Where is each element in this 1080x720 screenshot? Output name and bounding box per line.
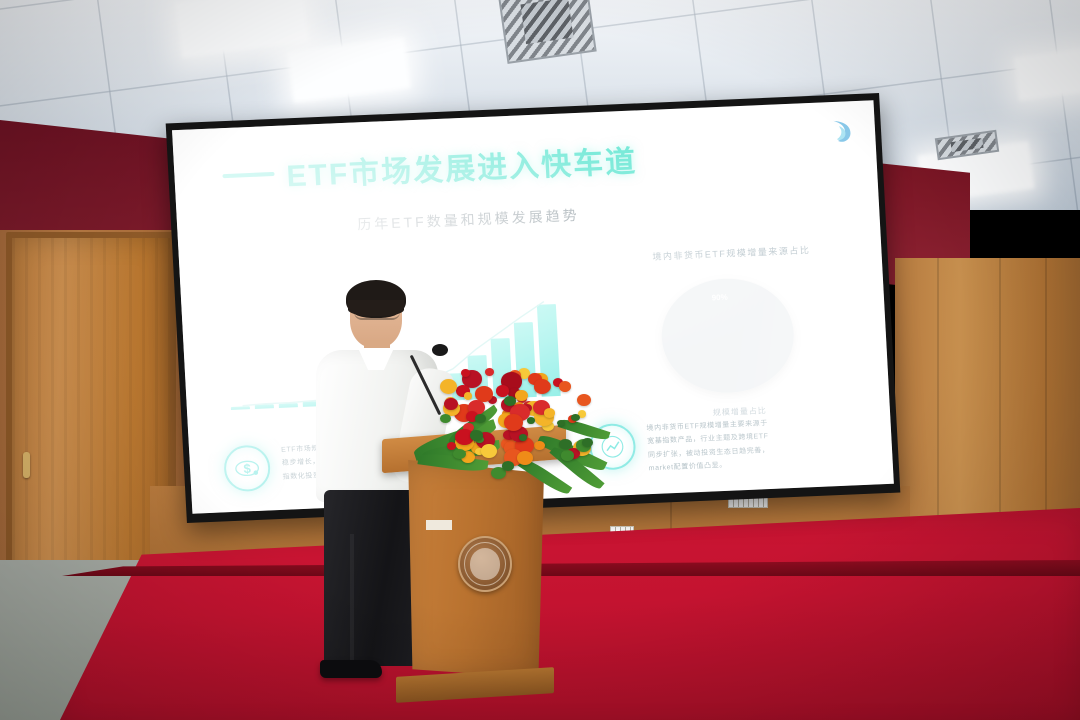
foliage bbox=[475, 414, 486, 422]
podium-shelf bbox=[426, 520, 452, 530]
flower bbox=[485, 368, 494, 376]
dollar-circle-icon: $ bbox=[223, 444, 271, 492]
foliage bbox=[561, 450, 574, 460]
flower bbox=[504, 414, 524, 431]
svg-text:$: $ bbox=[243, 461, 252, 476]
flower bbox=[534, 441, 545, 451]
pie-chart-title: 境内非货币ETF规模增量来源占比 bbox=[581, 240, 881, 266]
podium-base bbox=[396, 667, 554, 703]
brand-logo-icon bbox=[830, 117, 853, 144]
foliage bbox=[519, 434, 527, 441]
foliage bbox=[470, 430, 483, 441]
flower bbox=[481, 444, 497, 458]
presenter-leg-seam bbox=[350, 534, 354, 662]
gooseneck-microphone-head bbox=[432, 344, 448, 356]
foliage bbox=[440, 414, 451, 423]
foliage bbox=[571, 414, 581, 422]
conference-room-photo: ETF市场发展进入快车道 历年ETF数量和规模发展趋势 历年ETF数量及规模 境… bbox=[0, 0, 1080, 720]
flower bbox=[534, 379, 551, 394]
info-block-right-text: 境内非货币ETF规模增量主要来源于宽基指数产品，行业主题及跨境ETF同步扩张，被… bbox=[646, 417, 770, 475]
pie-slice-label: 90% bbox=[711, 293, 727, 303]
flower bbox=[559, 381, 571, 392]
slide-title: ETF市场发展进入快车道 bbox=[285, 136, 638, 195]
presenter-shoe bbox=[320, 660, 382, 678]
flower-arrangement bbox=[418, 358, 608, 508]
slide-subtitle: 历年ETF数量和规模发展趋势 bbox=[357, 193, 850, 234]
foliage bbox=[527, 417, 535, 423]
flower bbox=[464, 392, 472, 399]
pie-chart: 90% bbox=[659, 276, 797, 395]
pie-slices bbox=[659, 276, 797, 395]
flower bbox=[440, 379, 457, 394]
foliage bbox=[559, 439, 572, 449]
flower bbox=[444, 398, 458, 410]
flower bbox=[515, 390, 527, 401]
foliage bbox=[582, 438, 593, 447]
hvac-vent-core bbox=[520, 0, 573, 44]
emblem-ring bbox=[464, 542, 506, 586]
hvac-vent-core bbox=[950, 138, 984, 153]
foliage bbox=[502, 461, 514, 470]
door-handle-icon[interactable] bbox=[23, 452, 30, 478]
slide-title-row: ETF市场发展进入快车道 bbox=[221, 128, 847, 199]
university-seal-emblem bbox=[458, 536, 512, 592]
info-block-right: 境内非货币ETF规模增量主要来源于宽基指数产品，行业主题及跨境ETF同步扩张，被… bbox=[588, 412, 891, 478]
flower bbox=[496, 385, 509, 397]
title-dash-icon bbox=[222, 172, 274, 178]
recessed-panel-light bbox=[1013, 47, 1080, 101]
presenter-glasses bbox=[354, 310, 400, 320]
flower bbox=[577, 394, 591, 406]
